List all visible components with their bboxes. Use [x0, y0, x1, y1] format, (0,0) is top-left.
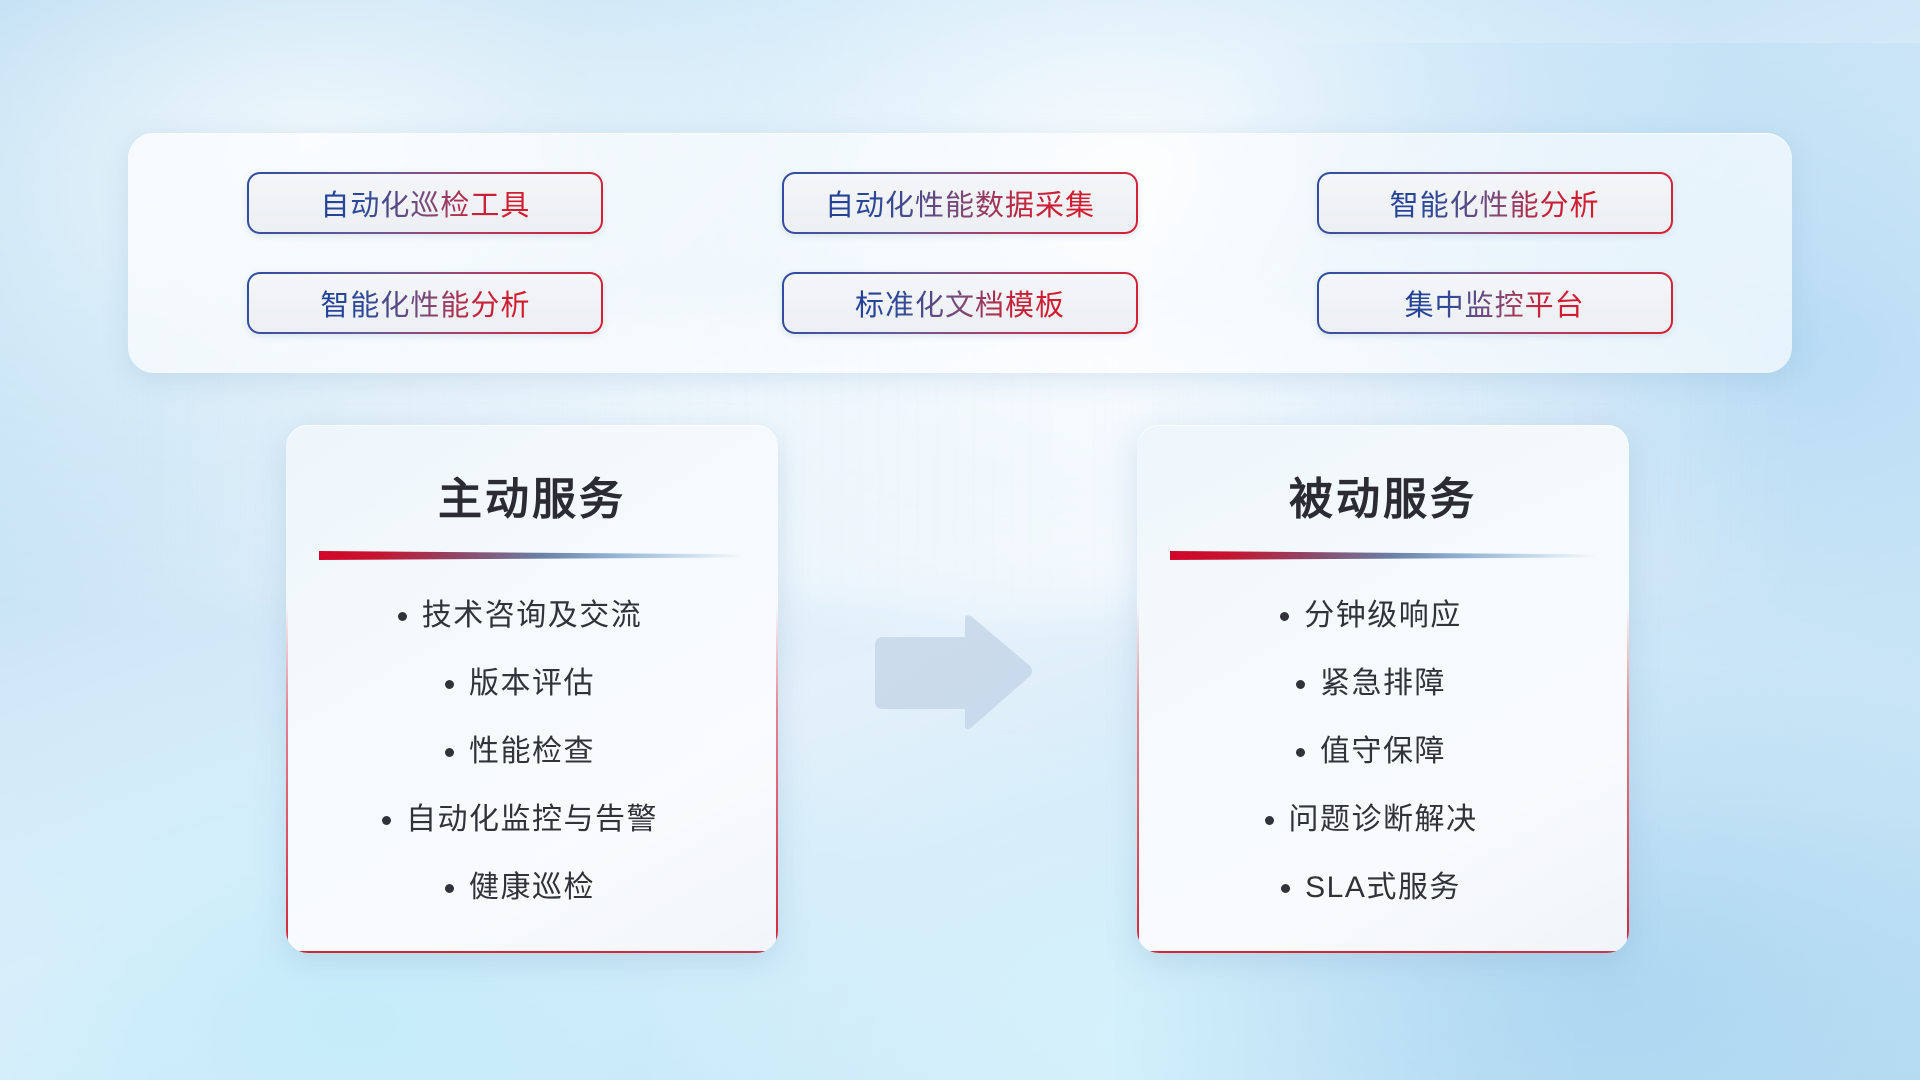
list-item[interactable]: 自动化监控与告警 — [406, 794, 658, 838]
card-accent-border-right — [1627, 605, 1629, 953]
capability-pill-surface: 自动化巡检工具 — [249, 174, 601, 232]
capability-pill-surface: 智能化性能分析 — [1319, 174, 1671, 232]
arrow-right-icon — [869, 613, 1035, 733]
list-item[interactable]: 技术咨询及交流 — [422, 590, 643, 634]
capability-pill-surface: 标准化文档模板 — [784, 274, 1136, 332]
capability-pill-label: 自动化性能数据采集 — [825, 182, 1095, 224]
list-item[interactable]: 性能检查 — [469, 726, 595, 770]
capability-pill-intelligent-performance-analysis-2[interactable]: 智能化性能分析 — [247, 272, 603, 334]
capability-pill-intelligent-performance-analysis-1[interactable]: 智能化性能分析 — [1317, 172, 1673, 234]
card-accent-border-bottom — [1137, 951, 1629, 953]
list-item[interactable]: 健康巡检 — [469, 862, 595, 906]
capability-pill-label: 标准化文档模板 — [855, 282, 1065, 324]
capability-pill-grid: 自动化巡检工具 自动化性能数据采集 智能化性能分析 智能化性能分析 标准化文档模… — [128, 133, 1792, 373]
card-title: 被动服务 — [1137, 463, 1629, 527]
list-item[interactable]: 值守保障 — [1320, 726, 1446, 770]
capability-pill-automated-performance-data-collection[interactable]: 自动化性能数据采集 — [782, 172, 1138, 234]
capability-pill-surface: 智能化性能分析 — [249, 274, 601, 332]
card-title-divider — [1170, 551, 1596, 560]
capability-pill-label: 智能化性能分析 — [1390, 182, 1600, 224]
capability-pill-surface: 自动化性能数据采集 — [784, 174, 1136, 232]
card-accent-border-right — [776, 605, 778, 953]
capability-pill-label: 自动化巡检工具 — [320, 182, 530, 224]
list-item[interactable]: SLA式服务 — [1305, 862, 1461, 906]
capability-pill-centralized-monitoring-platform[interactable]: 集中监控平台 — [1317, 272, 1673, 334]
card-accent-border-left — [1137, 605, 1139, 953]
card-title: 主动服务 — [286, 463, 778, 527]
list-item[interactable]: 分钟级响应 — [1304, 590, 1462, 634]
card-accent-border-bottom — [286, 951, 778, 953]
capability-pill-standardized-document-template[interactable]: 标准化文档模板 — [782, 272, 1138, 334]
card-service-list: 技术咨询及交流 版本评估 性能检查 自动化监控与告警 健康巡检 — [286, 590, 778, 906]
capability-panel: 自动化巡检工具 自动化性能数据采集 智能化性能分析 智能化性能分析 标准化文档模… — [128, 133, 1792, 373]
list-item[interactable]: 问题诊断解决 — [1289, 794, 1478, 838]
card-service-list: 分钟级响应 紧急排障 值守保障 问题诊断解决 SLA式服务 — [1137, 590, 1629, 906]
card-proactive-service: 主动服务 技术咨询及交流 版本评估 性能检查 自动化监控与告警 健康巡检 — [286, 425, 778, 953]
list-item[interactable]: 版本评估 — [469, 658, 595, 702]
capability-pill-label: 集中监控平台 — [1405, 282, 1585, 324]
capability-pill-label: 智能化性能分析 — [320, 282, 530, 324]
card-accent-border-left — [286, 605, 288, 953]
card-reactive-service: 被动服务 分钟级响应 紧急排障 值守保障 问题诊断解决 SLA式服务 — [1137, 425, 1629, 953]
card-title-divider — [319, 551, 745, 560]
capability-pill-automated-inspection-tool[interactable]: 自动化巡检工具 — [247, 172, 603, 234]
list-item[interactable]: 紧急排障 — [1320, 658, 1446, 702]
capability-pill-surface: 集中监控平台 — [1319, 274, 1671, 332]
